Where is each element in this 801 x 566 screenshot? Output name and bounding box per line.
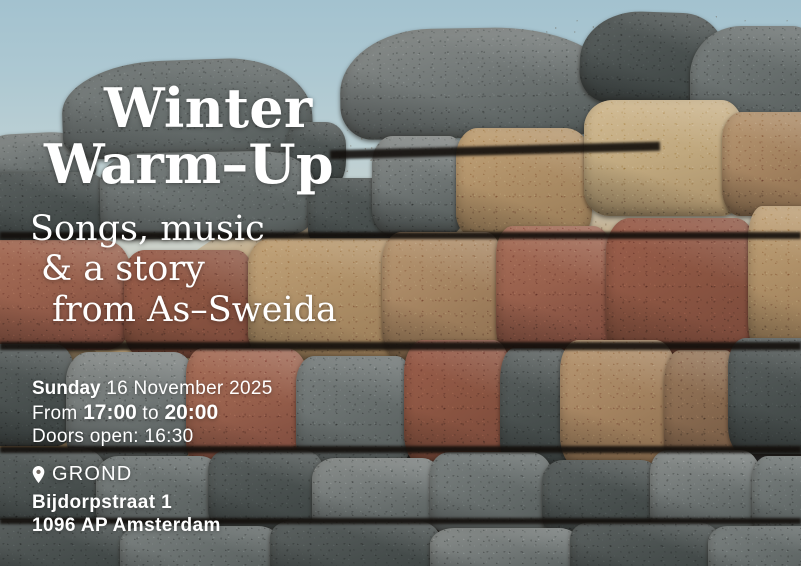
poster-subtitle-line2: & a story — [41, 249, 205, 289]
stone-r2-6 — [606, 218, 756, 358]
stone-r2-7 — [748, 206, 801, 354]
stone-r5-3 — [270, 520, 440, 566]
doors-open: Doors open: 16:30 — [32, 426, 193, 448]
stone-r4-8 — [752, 456, 801, 536]
stone-r2-5 — [496, 226, 614, 358]
stone-cap-4 — [339, 26, 611, 141]
event-time-start: 17:00 — [83, 401, 137, 424]
stone-r5-5 — [570, 522, 720, 566]
poster-subtitle-line3: from As–Sweida — [52, 290, 337, 330]
poster-subtitle-line1: Songs, music — [30, 209, 265, 249]
venue-line: GROND — [32, 463, 132, 486]
stone-r1-6 — [584, 100, 744, 216]
event-date-rest: 16 November 2025 — [101, 378, 273, 399]
poster-title-line1: Winter — [104, 79, 312, 137]
event-date-weekday: Sunday — [32, 378, 101, 399]
event-time-mid: to — [137, 403, 165, 424]
stone-r3-9 — [728, 338, 801, 454]
poster-title-line2: Warm–Up — [44, 135, 334, 193]
map-pin-icon — [32, 466, 45, 483]
venue-city: 1096 AP Amsterdam — [32, 515, 221, 537]
event-date: Sunday 16 November 2025 — [32, 378, 273, 400]
event-poster: Winter Warm–Up Songs, music & a story fr… — [0, 0, 801, 566]
venue-name: GROND — [52, 463, 132, 486]
stone-r5-6 — [708, 526, 801, 566]
event-time-prefix: From — [32, 403, 83, 424]
event-time: From 17:00 to 20:00 — [32, 401, 218, 425]
stone-r5-4 — [430, 528, 580, 566]
stone-r1-7 — [722, 112, 801, 216]
venue-street: Bijdorpstraat 1 — [32, 492, 172, 514]
event-time-end: 20:00 — [164, 401, 218, 424]
mortar-gap-2 — [0, 342, 801, 350]
